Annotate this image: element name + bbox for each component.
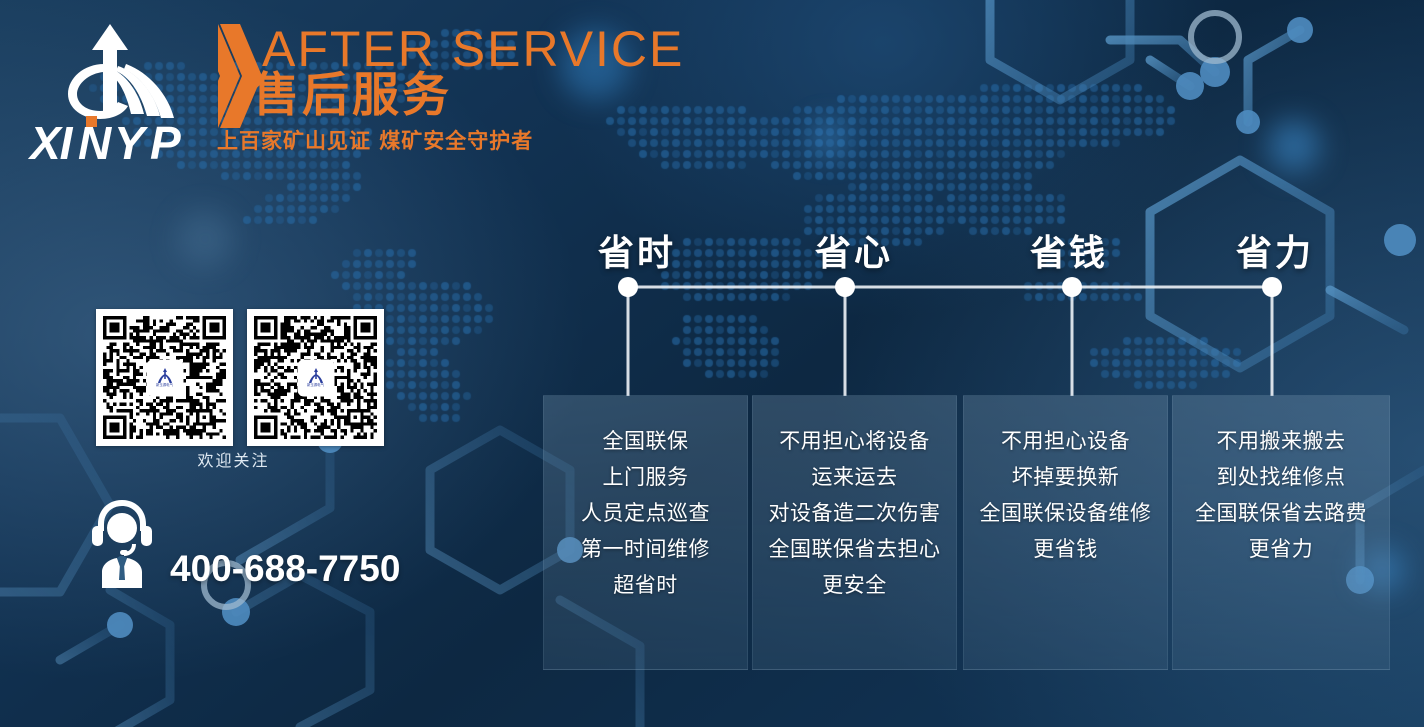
benefit-line: 超省时 xyxy=(613,568,678,602)
benefit-line: 全国联保设备维修 xyxy=(980,496,1152,530)
benefit-card: 全国联保上门服务人员定点巡查第一时间维修超省时 xyxy=(543,395,748,670)
poster-root: XI N Y P AFTER SERVICE 售后服务 上百家矿山见证 煤矿安全… xyxy=(0,0,1424,727)
benefit-line: 坏掉要换新 xyxy=(1012,460,1120,494)
timeline-title-3: 省力 xyxy=(1236,236,1314,272)
benefit-line: 第一时间维修 xyxy=(581,532,710,566)
benefit-line: 不用搬来搬去 xyxy=(1217,424,1346,458)
benefit-card: 不用搬来搬去到处找维修点全国联保省去路费更省力 xyxy=(1172,395,1390,670)
benefit-line: 全国联保 xyxy=(603,424,689,458)
benefit-line: 不用担心设备 xyxy=(1001,424,1130,458)
timeline-title-2: 省钱 xyxy=(1030,236,1108,272)
benefit-line: 运来运去 xyxy=(812,460,898,494)
benefit-line: 全国联保省去路费 xyxy=(1195,496,1367,530)
benefit-line: 更安全 xyxy=(822,568,887,602)
timeline-title-1: 省心 xyxy=(815,236,893,272)
benefit-line: 不用担心将设备 xyxy=(779,424,930,458)
benefit-card: 不用担心设备坏掉要换新全国联保设备维修更省钱 xyxy=(963,395,1168,670)
benefit-line: 更省力 xyxy=(1249,532,1314,566)
benefit-line: 到处找维修点 xyxy=(1217,460,1346,494)
benefit-line: 更省钱 xyxy=(1033,532,1098,566)
benefit-line: 全国联保省去担心 xyxy=(769,532,941,566)
benefit-card: 不用担心将设备运来运去对设备造二次伤害全国联保省去担心更安全 xyxy=(752,395,957,670)
benefit-line: 对设备造二次伤害 xyxy=(769,496,941,530)
benefit-line: 人员定点巡查 xyxy=(581,496,710,530)
benefit-line: 上门服务 xyxy=(603,460,689,494)
timeline-title-0: 省时 xyxy=(598,236,676,272)
